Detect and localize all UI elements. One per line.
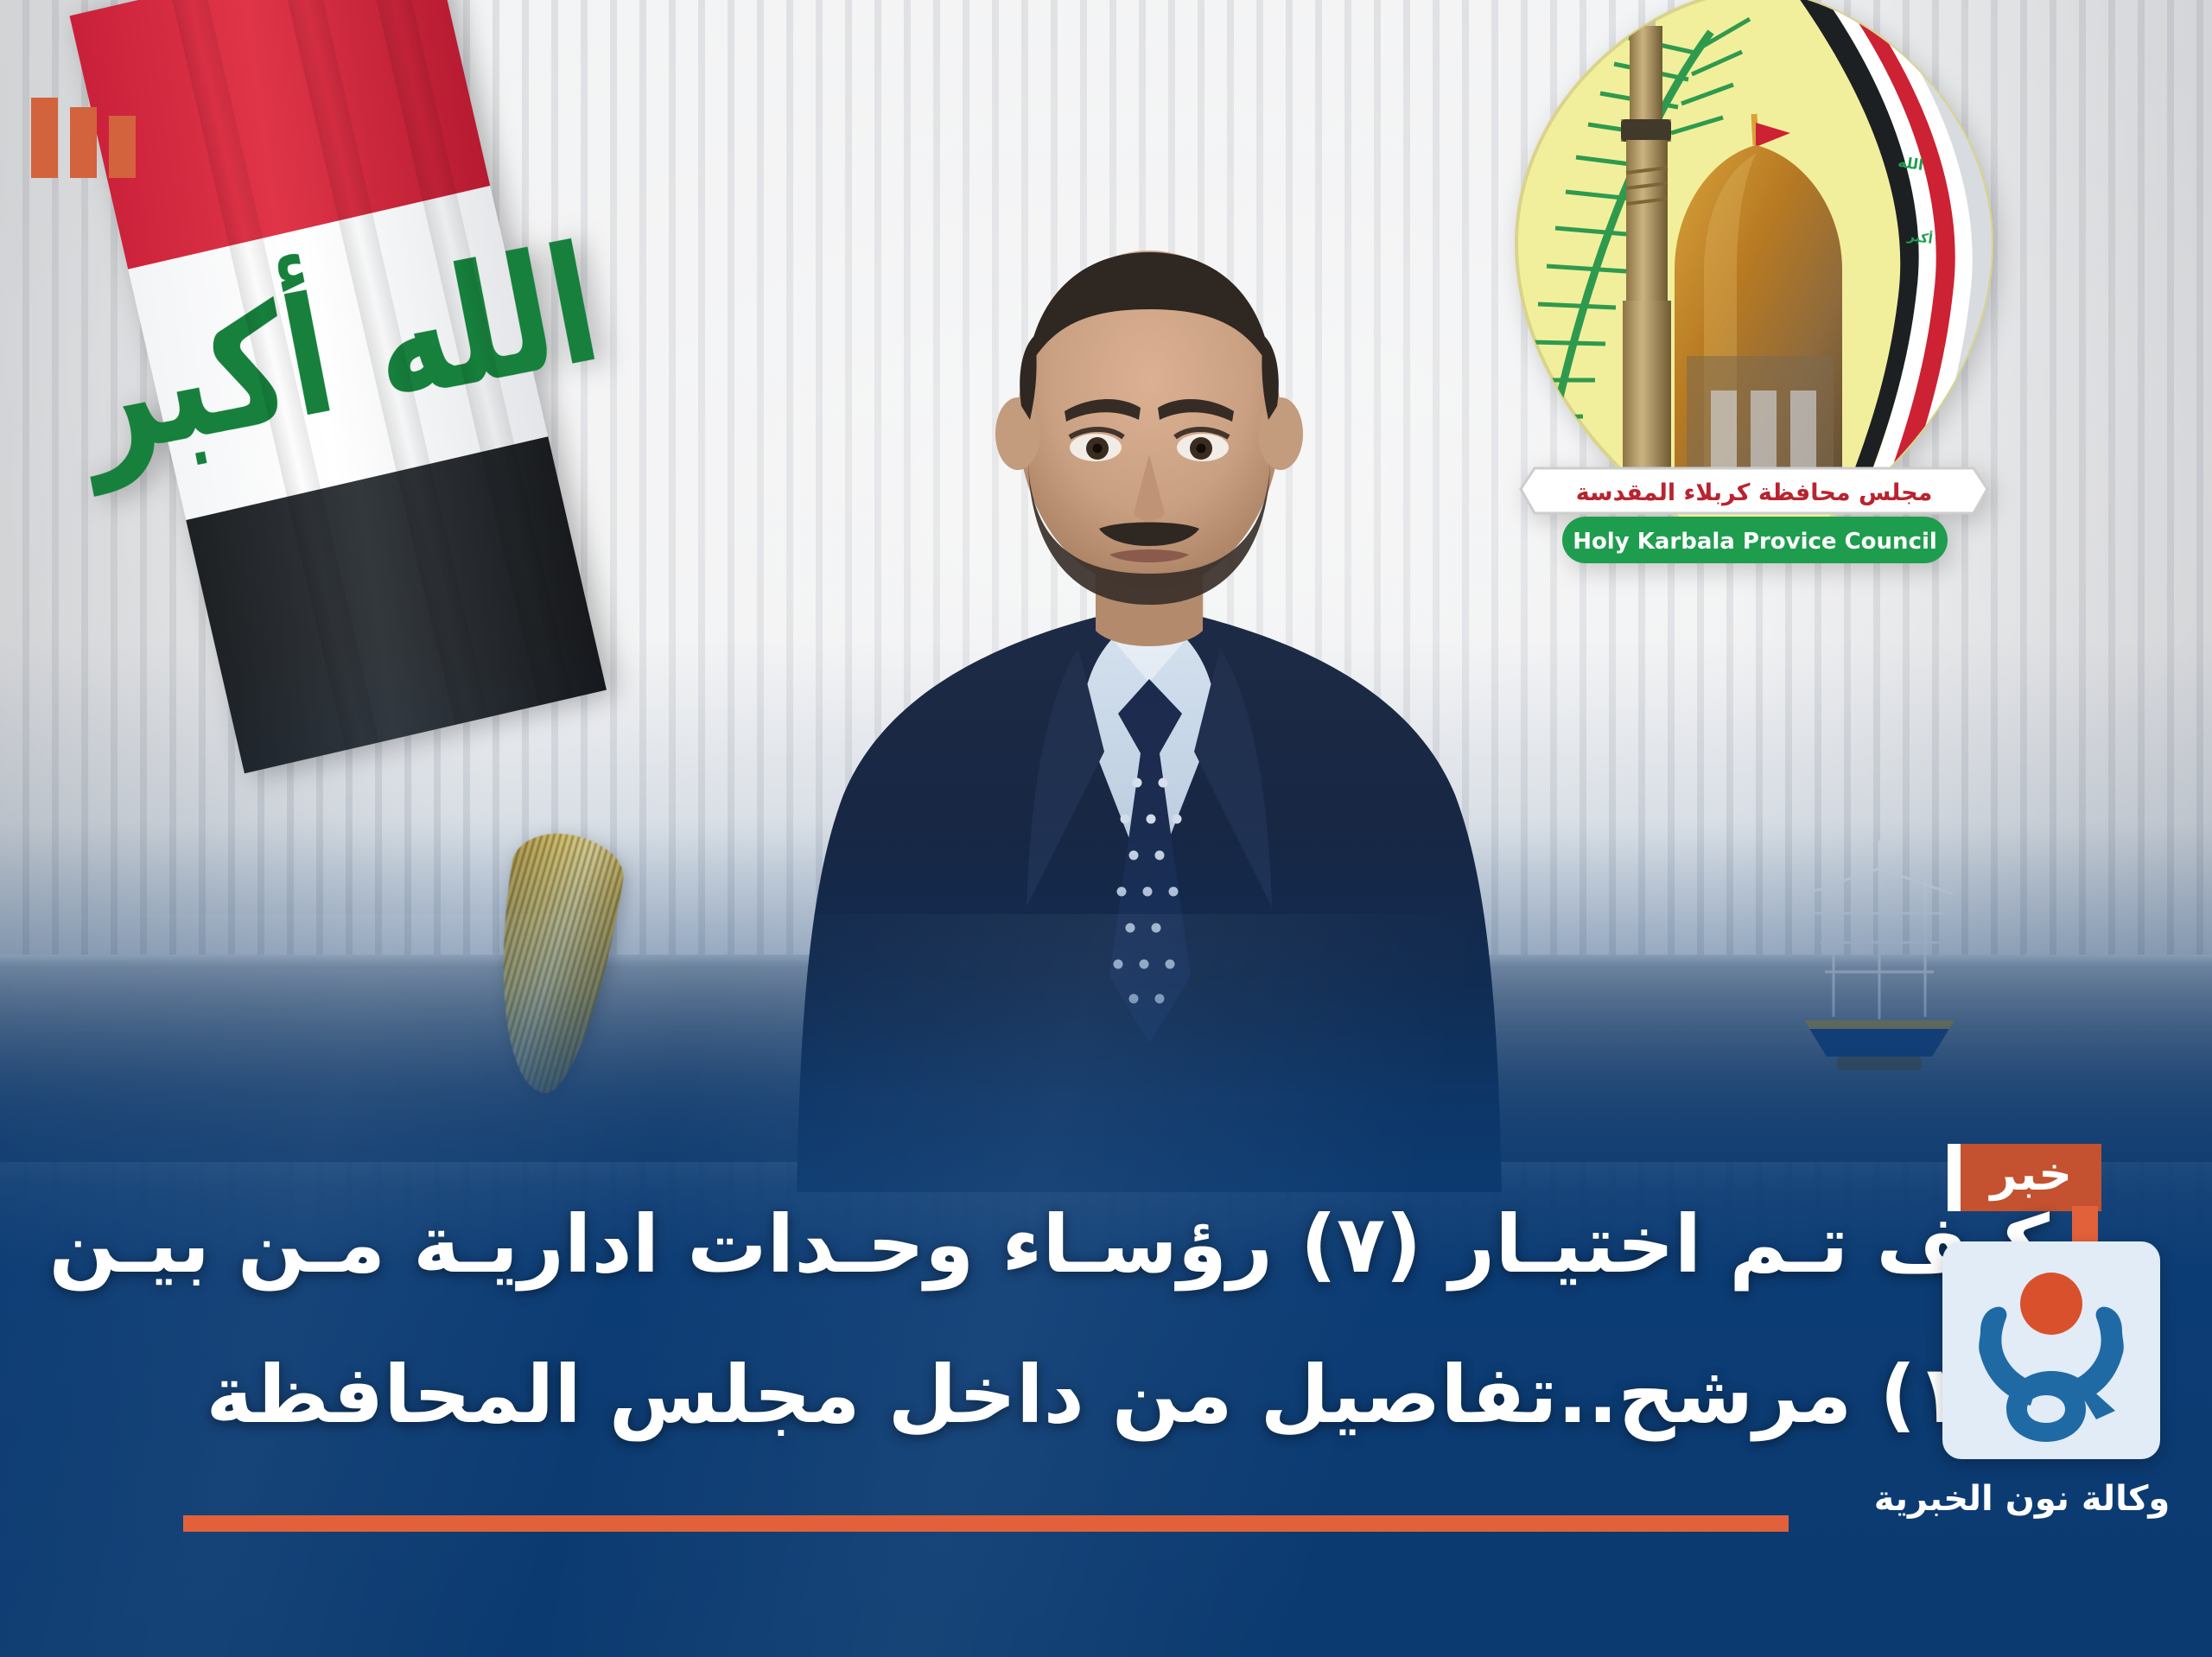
emblem-english-title: Holy Karbala Provice Council bbox=[1573, 529, 1937, 555]
headline-line1: كيف تـم اختيـار (٧) رؤسـاء وحـدات اداريـ… bbox=[49, 1197, 2050, 1293]
ear-left bbox=[995, 397, 1040, 470]
karbala-council-emblem: الله أكبر bbox=[1452, 0, 2056, 581]
headline-underline-rule bbox=[183, 1515, 1789, 1532]
bar-1 bbox=[31, 98, 58, 178]
agency-logo bbox=[1942, 1241, 2160, 1459]
noon-agency-logo-icon bbox=[1942, 1241, 2160, 1459]
emblem-arabic-title: مجلس محافظة كربلاء المقدسة bbox=[1576, 479, 1933, 506]
headline: كيف تـم اختيـار (٧) رؤسـاء وحـدات اداريـ… bbox=[130, 1197, 2098, 1444]
headline-line1-row: كيف تـم اختيـار (٧) رؤسـاء وحـدات اداريـ… bbox=[130, 1197, 2098, 1293]
ear-right bbox=[1258, 397, 1303, 470]
emblem-english-pill: Holy Karbala Provice Council bbox=[1562, 517, 1948, 563]
emblem-arabic-ribbon: مجلس محافظة كربلاء المقدسة bbox=[1521, 468, 1987, 513]
logo-orange-dot bbox=[2020, 1273, 2082, 1335]
bar-2 bbox=[70, 107, 97, 178]
headline-line2: (١٢٨) مرشح..تفاصيل من داخل مجلس المحافظة bbox=[130, 1347, 2098, 1444]
agency-name: وكالة نون الخبرية bbox=[1832, 1479, 2212, 1519]
news-card: الله أكبر bbox=[0, 0, 2212, 1657]
svg-text:الله: الله bbox=[1897, 154, 1924, 175]
three-bar-mark-icon bbox=[31, 98, 136, 178]
bar-3 bbox=[109, 116, 136, 178]
